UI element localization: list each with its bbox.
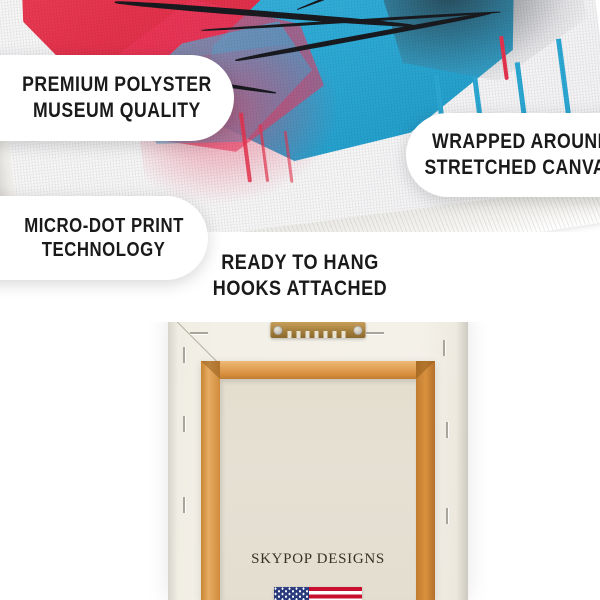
hanger-screw-left — [274, 326, 283, 335]
frame-bevel-top — [201, 361, 435, 379]
badge-wrapped-line1: WRAPPED AROUND — [432, 129, 600, 155]
staple — [443, 340, 445, 356]
frame-bevel-left — [201, 361, 220, 600]
wooden-stretcher-frame: SKYPOP DESIGNS — [201, 361, 435, 600]
ready-line2: HOOKS ATTACHED — [42, 276, 558, 302]
staple — [446, 508, 448, 524]
sawtooth-hanger — [271, 322, 366, 338]
badge-premium-polyster: PREMIUM POLYSTER MUSEUM QUALITY — [0, 55, 234, 141]
frame-bevel-right — [416, 361, 435, 600]
canvas-back-shadow-right — [456, 312, 468, 600]
frame-miter-top-right — [416, 361, 435, 379]
flag-canton — [274, 587, 309, 600]
badge-premium-line2: MUSEUM QUALITY — [33, 98, 201, 124]
hanger-screw-right — [354, 326, 363, 335]
product-feature-graphic: PREMIUM POLYSTER MUSEUM QUALITY WRAPPED … — [0, 0, 600, 600]
badge-wrapped-line2: STRETCHED CANVAS — [424, 155, 600, 181]
canvas-back-panel: SKYPOP DESIGNS — [220, 379, 416, 600]
brand-name: SKYPOP DESIGNS — [220, 551, 416, 568]
frame-miter-top-left — [201, 361, 220, 379]
staple — [190, 332, 208, 334]
staple — [366, 332, 384, 334]
canvas-back-photo: SKYPOP DESIGNS — [168, 312, 468, 600]
staple — [183, 347, 185, 363]
badge-micro-line1: MICRO-DOT PRINT — [24, 214, 184, 238]
flag-stars — [274, 587, 309, 600]
badge-premium-line1: PREMIUM POLYSTER — [22, 72, 212, 98]
usa-flag — [274, 587, 362, 600]
staple — [183, 497, 185, 513]
staple — [446, 422, 448, 438]
ready-to-hang-label: READY TO HANG HOOKS ATTACHED — [0, 250, 600, 303]
staple — [183, 416, 185, 432]
hanger-teeth — [288, 331, 349, 338]
badge-wrapped-around: WRAPPED AROUND STRETCHED CANVAS — [406, 113, 600, 197]
ready-line1: READY TO HANG — [42, 250, 558, 276]
